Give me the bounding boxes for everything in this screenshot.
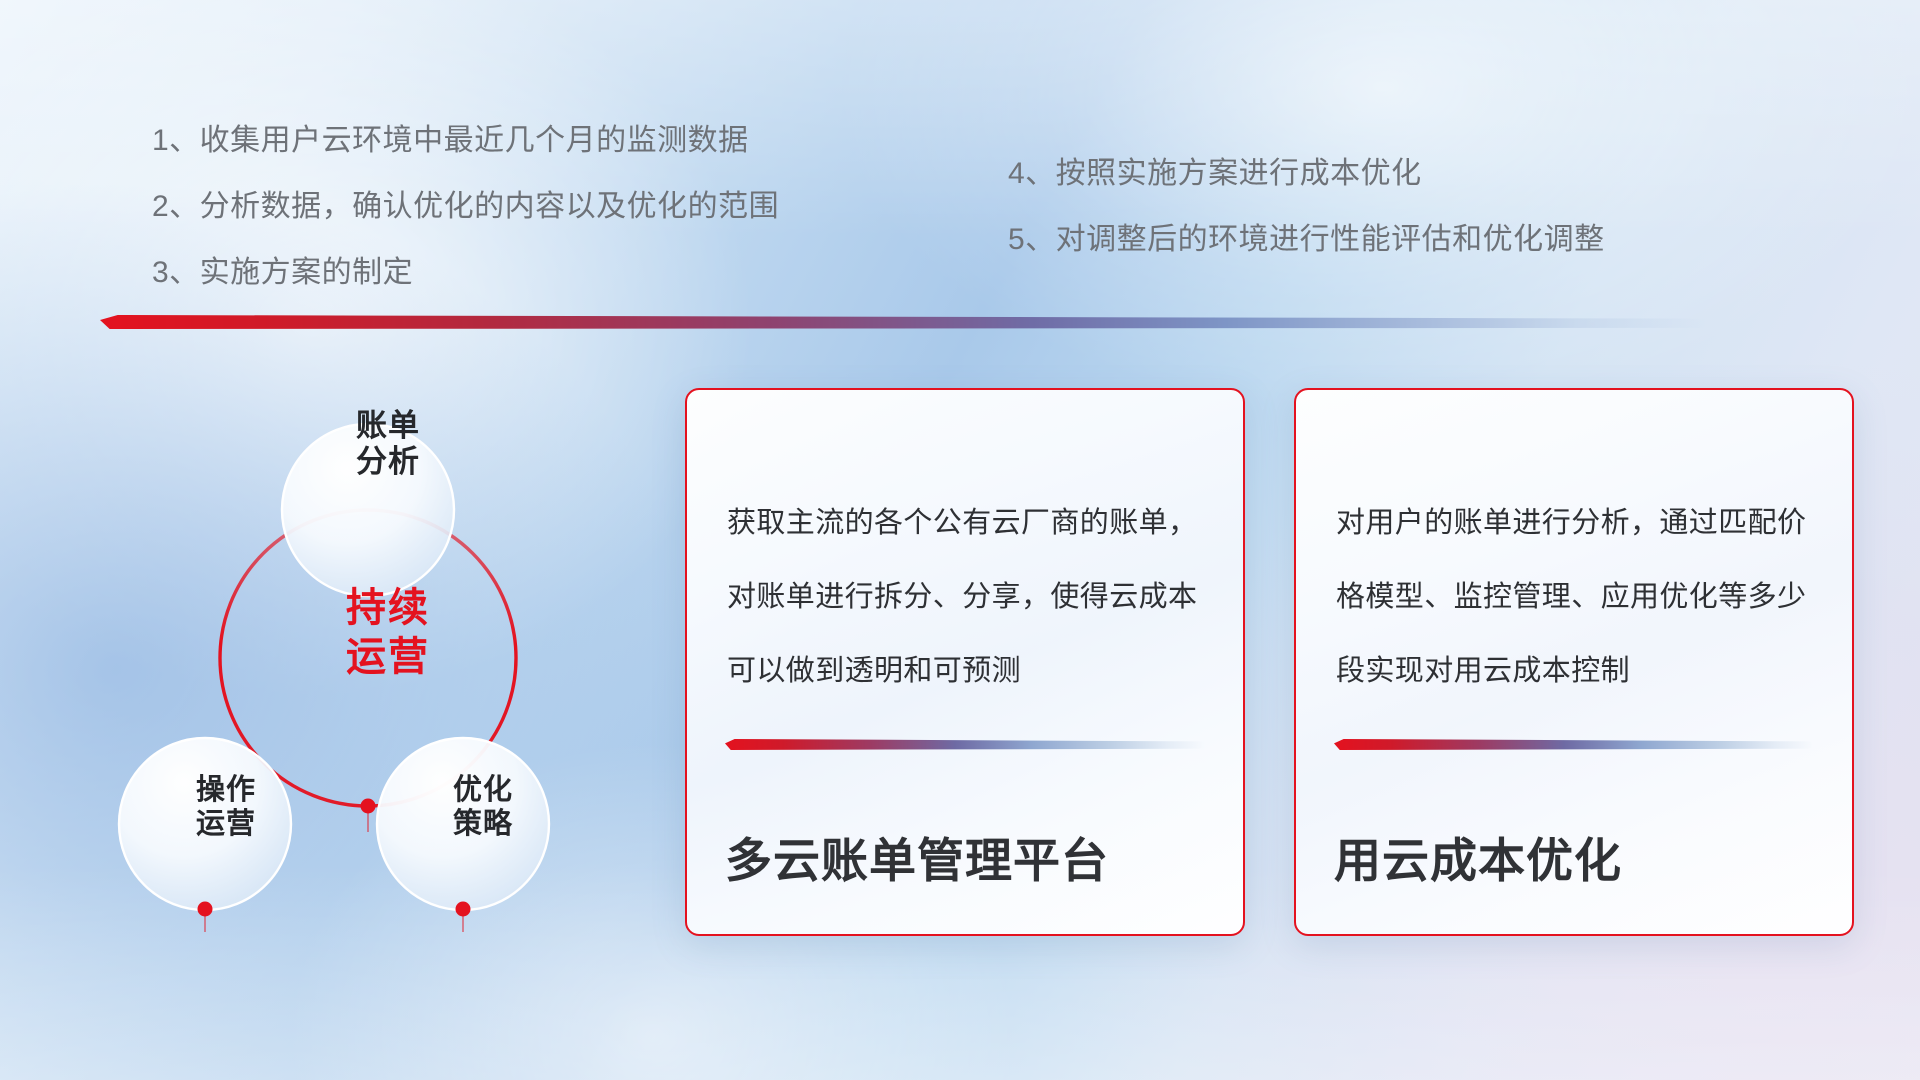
card-divider xyxy=(1334,739,1814,750)
venn-dot-left xyxy=(198,902,213,917)
card-divider-bar xyxy=(1334,739,1814,750)
card-body-text: 获取主流的各个公有云厂商的账单，对账单进行拆分、分享，使得云成本可以做到透明和可… xyxy=(727,486,1207,708)
card-title: 多云账单管理平台 xyxy=(725,822,1219,891)
venn-diagram: 账单 分析 操作 运营 优化 策略 持续 运营 xyxy=(78,352,638,932)
venn-label-center: 持续 运营 xyxy=(278,584,498,682)
step-item-5: 5、对调整后的环境进行性能评估和优化调整 xyxy=(1008,225,1605,255)
slide-canvas: 1、收集用户云环境中最近几个月的监测数据 2、分析数据，确认优化的内容以及优化的… xyxy=(0,0,1920,1080)
venn-dot-right xyxy=(456,902,471,917)
card-multicloud-billing[interactable]: 获取主流的各个公有云厂商的账单，对账单进行拆分、分享，使得云成本可以做到透明和可… xyxy=(685,388,1245,936)
steps-list-right: 4、按照实施方案进行成本优化 5、对调整后的环境进行性能评估和优化调整 xyxy=(1008,159,1605,291)
venn-label-billing-analysis: 账单 分析 xyxy=(298,408,478,480)
venn-label-optimization: 优化 策略 xyxy=(393,774,573,841)
section-divider xyxy=(100,315,1708,329)
card-title: 用云成本优化 xyxy=(1334,822,1828,891)
section-divider-bar xyxy=(100,315,1708,329)
step-item-3: 3、实施方案的制定 xyxy=(152,258,779,288)
step-item-4: 4、按照实施方案进行成本优化 xyxy=(1008,159,1605,189)
step-item-1: 1、收集用户云环境中最近几个月的监测数据 xyxy=(152,126,779,156)
steps-list-left: 1、收集用户云环境中最近几个月的监测数据 2、分析数据，确认优化的内容以及优化的… xyxy=(152,126,779,324)
card-divider-bar xyxy=(725,739,1205,750)
venn-dot-top xyxy=(361,799,376,814)
step-item-2: 2、分析数据，确认优化的内容以及优化的范围 xyxy=(152,192,779,222)
card-divider xyxy=(725,739,1205,750)
venn-label-operations: 操作 运营 xyxy=(136,774,316,841)
card-cloud-cost-optimization[interactable]: 对用户的账单进行分析，通过匹配价格模型、监控管理、应用优化等多少段实现对用云成本… xyxy=(1294,388,1854,936)
card-body-text: 对用户的账单进行分析，通过匹配价格模型、监控管理、应用优化等多少段实现对用云成本… xyxy=(1336,486,1816,708)
